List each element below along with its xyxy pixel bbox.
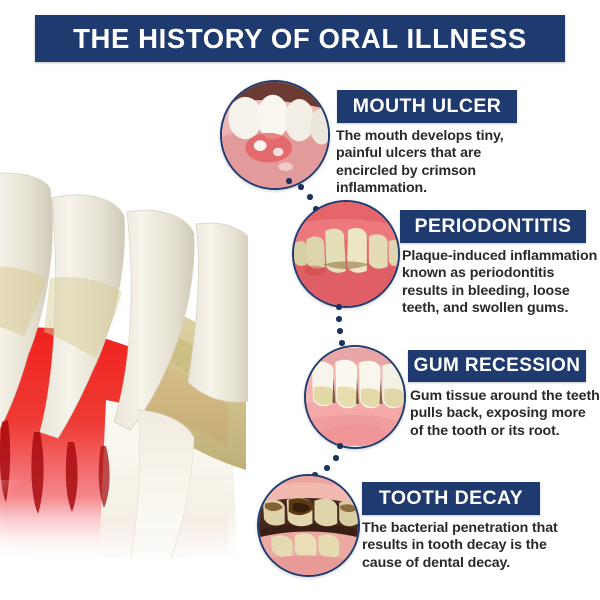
label-banner-mouth-ulcer: MOUTH ULCER — [337, 90, 517, 123]
label-banner-gum-recession: GUM RECESSION — [408, 350, 586, 382]
section-body-tooth-decay: The bacterial penetration that results i… — [362, 520, 560, 572]
section-body-gum-recession: Gum tissue around the teeth pulls back, … — [410, 388, 600, 440]
section-label-gum-recession: GUM RECESSION — [414, 355, 581, 377]
tooth-decay-photo — [257, 474, 360, 577]
section-label-mouth-ulcer: MOUTH ULCER — [353, 95, 501, 118]
page-title: THE HISTORY OF ORAL ILLNESS — [73, 23, 527, 55]
dental-anatomy-illustration — [0, 150, 248, 600]
section-body-mouth-ulcer: The mouth develops tiny, painful ulcers … — [336, 128, 532, 197]
section-label-tooth-decay: TOOTH DECAY — [379, 487, 523, 510]
label-banner-periodontitis: PERIODONTITIS — [400, 210, 586, 243]
periodontitis-photo — [292, 200, 400, 308]
gum-recession-photo — [304, 345, 406, 449]
mouth-ulcer-photo — [220, 80, 330, 190]
infographic-canvas: THE HISTORY OF ORAL ILLNESS — [0, 0, 600, 600]
section-body-periodontitis: Plaque-induced inflammation known as per… — [402, 248, 598, 317]
dot-connector-2 — [336, 302, 366, 350]
page-title-banner: THE HISTORY OF ORAL ILLNESS — [35, 15, 565, 62]
section-label-periodontitis: PERIODONTITIS — [415, 215, 572, 238]
label-banner-tooth-decay: TOOTH DECAY — [362, 482, 540, 515]
